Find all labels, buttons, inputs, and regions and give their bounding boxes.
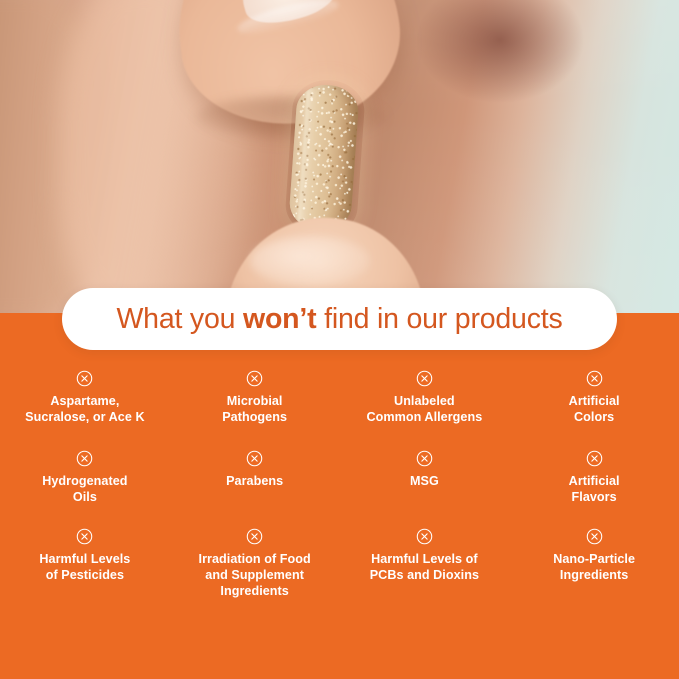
exclusion-item: Parabens: [170, 450, 340, 528]
circle-x-icon: [246, 528, 263, 545]
exclusions-grid: Aspartame, Sucralose, or Ace K Microbial…: [0, 370, 679, 618]
exclusion-item: Aspartame, Sucralose, or Ace K: [0, 370, 170, 450]
exclusion-label: Microbial Pathogens: [222, 393, 287, 425]
exclusion-label: Nano-Particle Ingredients: [553, 551, 635, 583]
exclusion-item: Harmful Levels of PCBs and Dioxins: [340, 528, 510, 618]
headline-pill: What you won’t find in our products: [62, 288, 617, 350]
circle-x-icon: [246, 450, 263, 467]
exclusion-label: Artificial Flavors: [569, 473, 620, 505]
circle-x-icon: [586, 370, 603, 387]
circle-x-icon: [76, 528, 93, 545]
circle-x-icon: [416, 450, 433, 467]
headline-emphasis: won’t: [243, 303, 316, 335]
exclusion-label: Irradiation of Food and Supplement Ingre…: [199, 551, 311, 599]
circle-x-icon: [76, 450, 93, 467]
exclusion-item: Artificial Colors: [509, 370, 679, 450]
exclusions-row: Hydrogenated Oils Parabens MSG: [0, 450, 679, 528]
product-claims-infographic: What you won’t find in our products Aspa…: [0, 0, 679, 679]
exclusion-label: Harmful Levels of Pesticides: [39, 551, 130, 583]
exclusions-row: Harmful Levels of Pesticides Irradiation…: [0, 528, 679, 618]
supplement-tablet: [288, 83, 360, 232]
circle-x-icon: [416, 528, 433, 545]
circle-x-icon: [76, 370, 93, 387]
exclusion-label: Hydrogenated Oils: [42, 473, 127, 505]
exclusion-label: Unlabeled Common Allergens: [366, 393, 482, 425]
headline-prefix: What you: [116, 303, 243, 335]
exclusion-label: Parabens: [226, 473, 283, 489]
circle-x-icon: [586, 528, 603, 545]
exclusion-item: Harmful Levels of Pesticides: [0, 528, 170, 618]
exclusion-item: Nano-Particle Ingredients: [509, 528, 679, 618]
page-title: What you won’t find in our products: [116, 303, 562, 336]
circle-x-icon: [246, 370, 263, 387]
circle-x-icon: [416, 370, 433, 387]
exclusion-item: Hydrogenated Oils: [0, 450, 170, 528]
exclusion-item: Microbial Pathogens: [170, 370, 340, 450]
exclusion-label: Harmful Levels of PCBs and Dioxins: [370, 551, 479, 583]
exclusion-label: MSG: [410, 473, 439, 489]
exclusion-item: Irradiation of Food and Supplement Ingre…: [170, 528, 340, 618]
exclusions-row: Aspartame, Sucralose, or Ace K Microbial…: [0, 370, 679, 450]
exclusion-item: Artificial Flavors: [509, 450, 679, 528]
product-photo: [0, 0, 679, 313]
exclusions-panel: Aspartame, Sucralose, or Ace K Microbial…: [0, 313, 679, 679]
exclusion-label: Aspartame, Sucralose, or Ace K: [25, 393, 144, 425]
circle-x-icon: [586, 450, 603, 467]
exclusion-item: MSG: [340, 450, 510, 528]
exclusion-label: Artificial Colors: [569, 393, 620, 425]
headline-suffix: find in our products: [316, 303, 562, 335]
exclusion-item: Unlabeled Common Allergens: [340, 370, 510, 450]
finger-bottom-highlight: [250, 236, 370, 286]
